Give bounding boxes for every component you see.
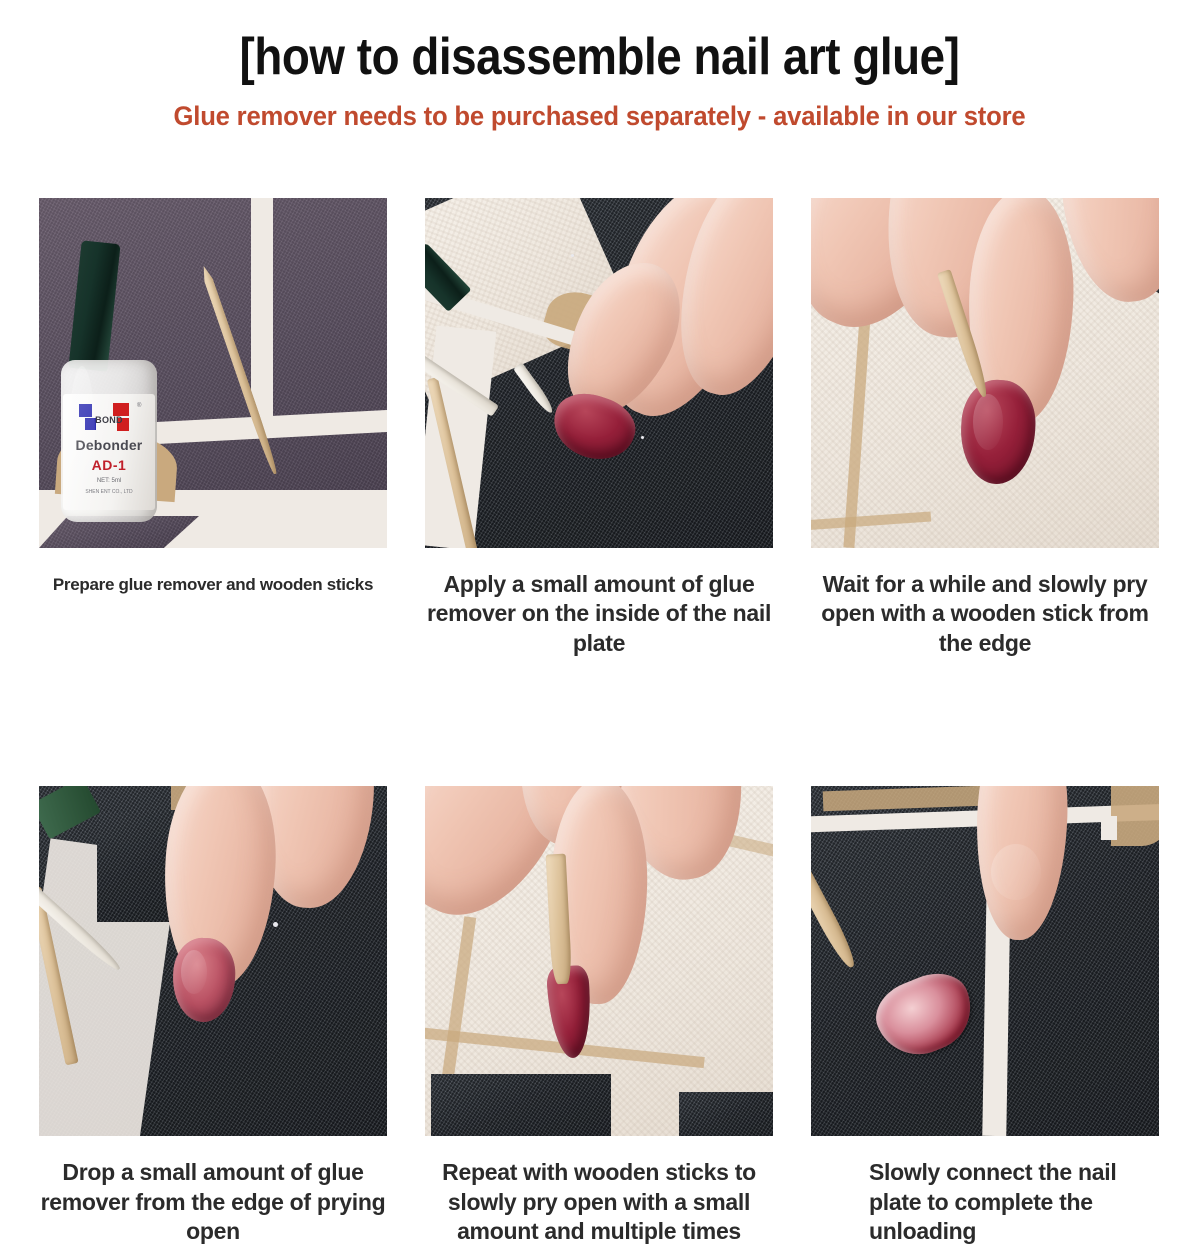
infographic-header: [how to disassemble nail art glue] Glue … [0,0,1199,132]
step-caption-2: Apply a small amount of glue remover on … [425,548,773,658]
surface-speck [641,436,644,439]
registered-mark-icon: ® [137,403,141,409]
bottle-label: ® BOND Debonder AD-1 NET: 5ml SHEN ENT C… [63,394,155,510]
page-subtitle: Glue remover needs to be purchased separ… [30,85,1169,132]
step-photo-1: ® BOND Debonder AD-1 NET: 5ml SHEN ENT C… [39,198,387,548]
step-card-2: Apply a small amount of glue remover on … [425,198,773,658]
step-photo-5 [425,786,773,1136]
bottle-product-name: Debonder [63,438,155,452]
step-caption-5: Repeat with wooden sticks to slowly pry … [425,1136,773,1246]
bottle-net-volume: NET: 5ml [63,478,155,484]
surface-speck [571,254,574,257]
steps-grid: ® BOND Debonder AD-1 NET: 5ml SHEN ENT C… [39,198,1161,1247]
steps-row-top: ® BOND Debonder AD-1 NET: 5ml SHEN ENT C… [39,198,1161,658]
step-card-5: Repeat with wooden sticks to slowly pry … [425,786,773,1246]
leather-patch [679,1092,773,1136]
bottle-company-text: SHEN ENT CO., LTD [63,490,155,495]
page-title: [how to disassemble nail art glue] [72,30,1127,85]
step-photo-4 [39,786,387,1136]
step-card-4: Drop a small amount of glue remover from… [39,786,387,1246]
steps-row-bottom: Drop a small amount of glue remover from… [39,786,1161,1246]
surface-tan-patch [1111,786,1159,846]
step-card-6: Slowly connect the nail plate to complet… [811,786,1159,1246]
surface-stripe [1101,816,1117,840]
step-caption-4: Drop a small amount of glue remover from… [39,1136,387,1246]
bottle-brand-text: BOND [63,416,155,425]
step-photo-3 [811,198,1159,548]
bottle-product-code: AD-1 [63,458,155,472]
step-photo-6 [811,786,1159,1136]
step-caption-3: Wait for a while and slowly pry open wit… [811,548,1159,658]
step-caption-1: Prepare glue remover and wooden sticks [39,548,387,596]
step-card-1: ® BOND Debonder AD-1 NET: 5ml SHEN ENT C… [39,198,387,658]
step-card-3: Wait for a while and slowly pry open wit… [811,198,1159,658]
step-photo-2 [425,198,773,548]
step-caption-6: Slowly connect the nail plate to complet… [811,1136,1159,1246]
leather-patch [431,1074,611,1136]
